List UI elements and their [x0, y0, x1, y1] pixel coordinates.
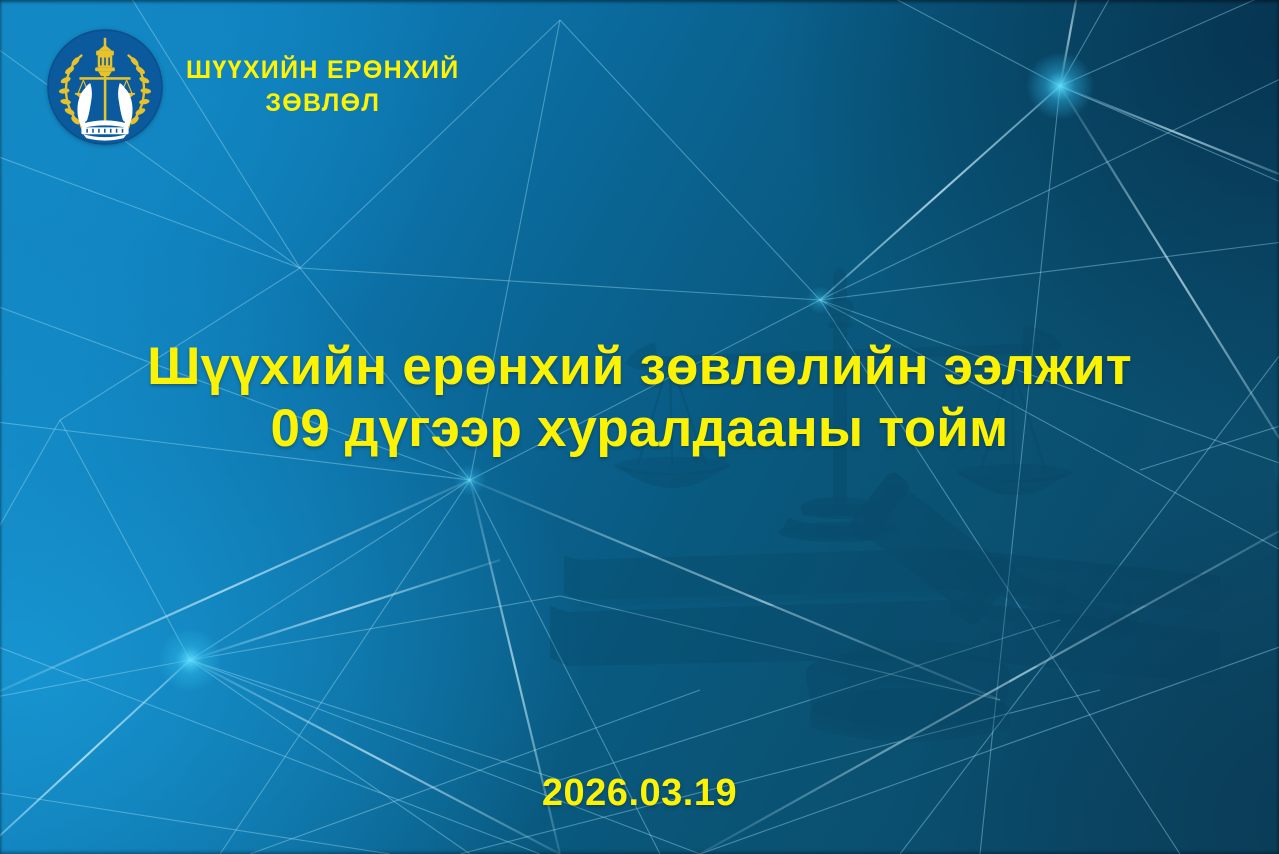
ribbon-base: [81, 120, 128, 140]
slide-title-line-1: Шүүхийн ерөнхий зөвлөлийн ээлжит: [60, 336, 1219, 398]
brand-header: ШҮҮХИЙН ЕРӨНХИЙ ЗӨВЛӨЛ: [46, 28, 460, 146]
judicial-general-council-emblem-icon: [46, 28, 164, 146]
slide-title: Шүүхийн ерөнхий зөвлөлийн ээлжит 09 дүгэ…: [0, 336, 1279, 460]
slide-title-line-2: 09 дүгээр хуралдааны тойм: [60, 398, 1219, 460]
organization-name: ШҮҮХИЙН ЕРӨНХИЙ ЗӨВЛӨЛ: [186, 54, 460, 121]
justice-watermark-illustration: [520, 260, 1220, 760]
presentation-slide: ШҮҮХИЙН ЕРӨНХИЙ ЗӨВЛӨЛ Шүүхийн ерөнхий з…: [0, 0, 1279, 854]
date-text: 2026.03.19: [542, 772, 737, 814]
slide-date: 2026.03.19: [0, 772, 1279, 815]
